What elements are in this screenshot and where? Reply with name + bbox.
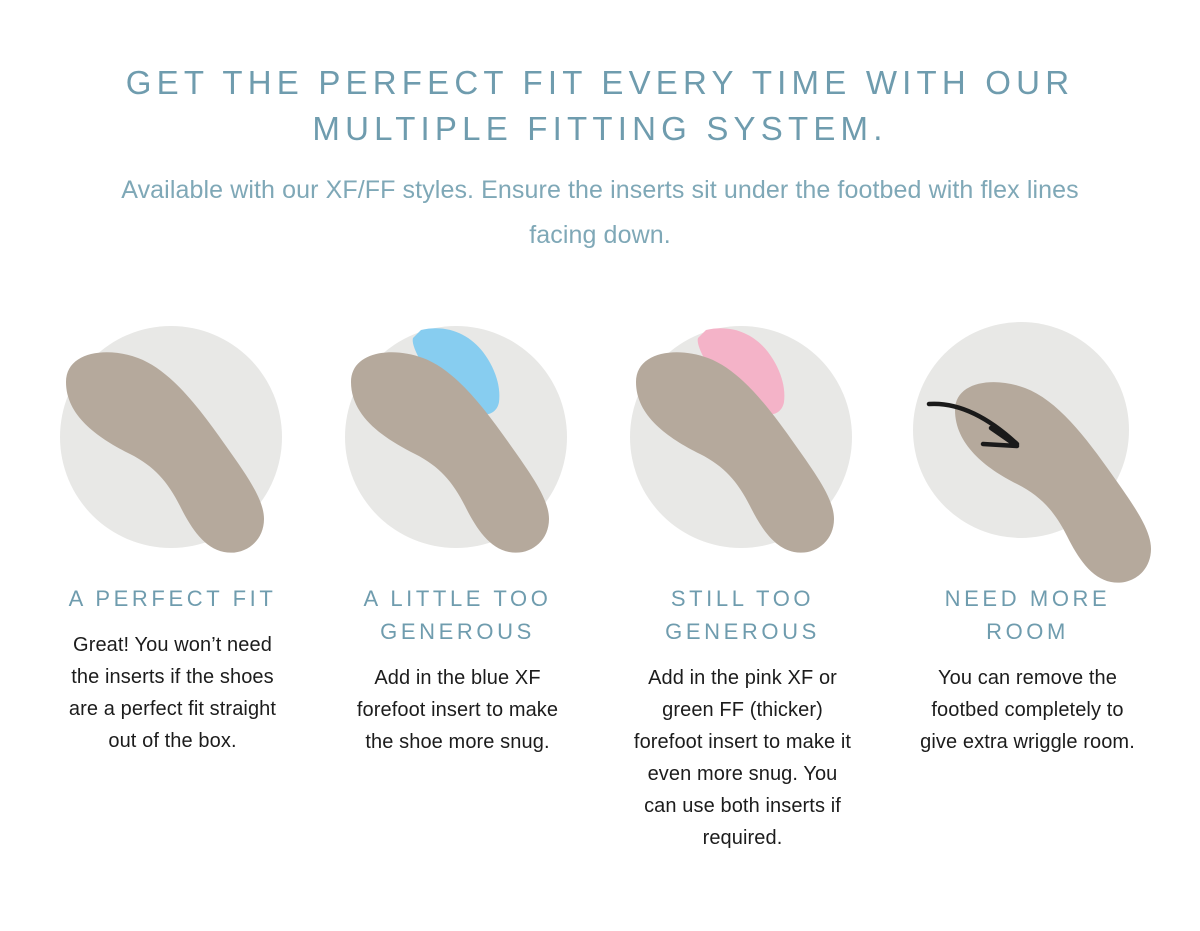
list-item: Still Too Generous Add in the pink XF or…	[600, 320, 885, 854]
page-subtitle: Available with our XF/FF styles. Ensure …	[110, 168, 1090, 258]
insole-blue-insert-icon	[343, 320, 573, 560]
insole-pink-insert-icon	[628, 320, 858, 560]
option-title: Need More Room	[900, 582, 1155, 648]
fitting-options-list: A Perfect Fit Great! You won’t need the …	[0, 320, 1200, 854]
insole-plain-icon	[58, 320, 288, 560]
header: Get the perfect fit every time with our …	[0, 0, 1200, 258]
list-item: A Perfect Fit Great! You won’t need the …	[30, 320, 315, 757]
list-item: A Little Too Generous Add in the blue XF…	[315, 320, 600, 758]
option-title: Still Too Generous	[615, 582, 870, 648]
option-title: A Little Too Generous	[330, 582, 585, 648]
option-description: Add in the blue XF forefoot insert to ma…	[349, 662, 567, 758]
option-description: You can remove the footbed completely to…	[919, 662, 1137, 758]
fitting-system-infographic: Get the perfect fit every time with our …	[0, 0, 1200, 931]
list-item: Need More Room You can remove the footbe…	[885, 320, 1170, 758]
option-description: Great! You won’t need the inserts if the…	[64, 629, 282, 757]
page-title: Get the perfect fit every time with our …	[80, 60, 1120, 152]
insole-remove-arrow-icon	[913, 320, 1143, 560]
option-description: Add in the pink XF or green FF (thicker)…	[634, 662, 852, 854]
option-title: A Perfect Fit	[45, 582, 300, 615]
